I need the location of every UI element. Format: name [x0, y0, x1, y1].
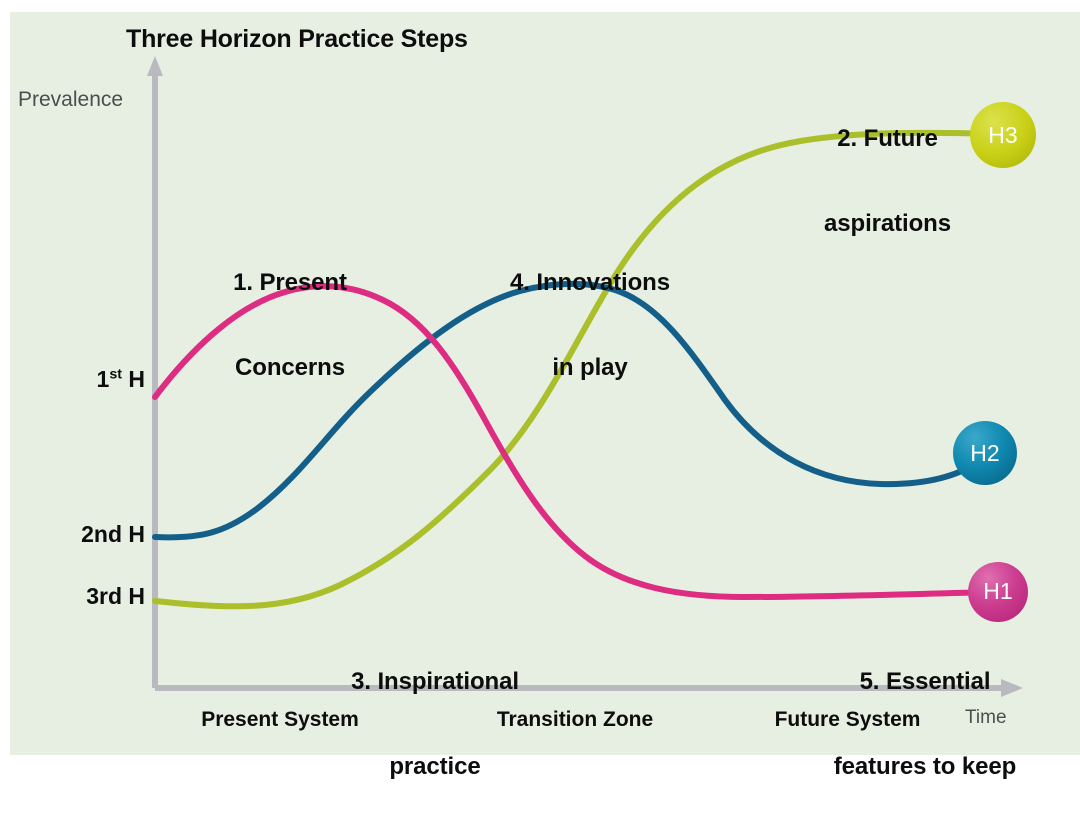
y-tick-1-superscript: st — [109, 366, 122, 382]
node-h3-label: H3 — [973, 122, 1033, 149]
node-h2-label: H2 — [955, 440, 1015, 467]
annotation-3-line-1: 3. Inspirational — [320, 668, 550, 696]
annotation-future-aspirations: 2. Future aspirations — [790, 68, 985, 295]
annotation-4-line-2: in play — [480, 354, 700, 382]
annotation-essential-features: 5. Essential features to keep — [810, 611, 1040, 838]
y-axis-title: Prevalence — [18, 88, 123, 113]
annotation-5-line-2: features to keep — [810, 753, 1040, 781]
annotation-present-concerns: 1. Present Concerns — [180, 212, 400, 439]
three-horizons-diagram: Three Horizon Practice Steps Prevalence … — [0, 0, 1080, 781]
y-tick-label-second-horizon: 2nd H — [25, 521, 145, 548]
annotation-1-line-1: 1. Present — [180, 269, 400, 297]
annotation-1-line-2: Concerns — [180, 354, 400, 382]
annotation-2-line-1: 2. Future — [790, 125, 985, 153]
annotation-5-line-1: 5. Essential — [810, 668, 1040, 696]
annotation-inspirational-practice: 3. Inspirational practice — [320, 611, 550, 838]
y-tick-1-suffix: H — [122, 366, 145, 392]
annotation-2-line-2: aspirations — [790, 210, 985, 238]
node-h1-label: H1 — [968, 578, 1028, 605]
y-tick-label-first-horizon: 1st H — [25, 366, 145, 393]
page-title: Three Horizon Practice Steps — [126, 25, 468, 55]
annotation-innovations-in-play: 4. Innovations in play — [480, 212, 700, 439]
annotation-4-line-1: 4. Innovations — [480, 269, 700, 297]
annotation-3-line-2: practice — [320, 753, 550, 781]
y-tick-1-prefix: 1 — [97, 366, 110, 392]
y-tick-label-third-horizon: 3rd H — [25, 583, 145, 610]
